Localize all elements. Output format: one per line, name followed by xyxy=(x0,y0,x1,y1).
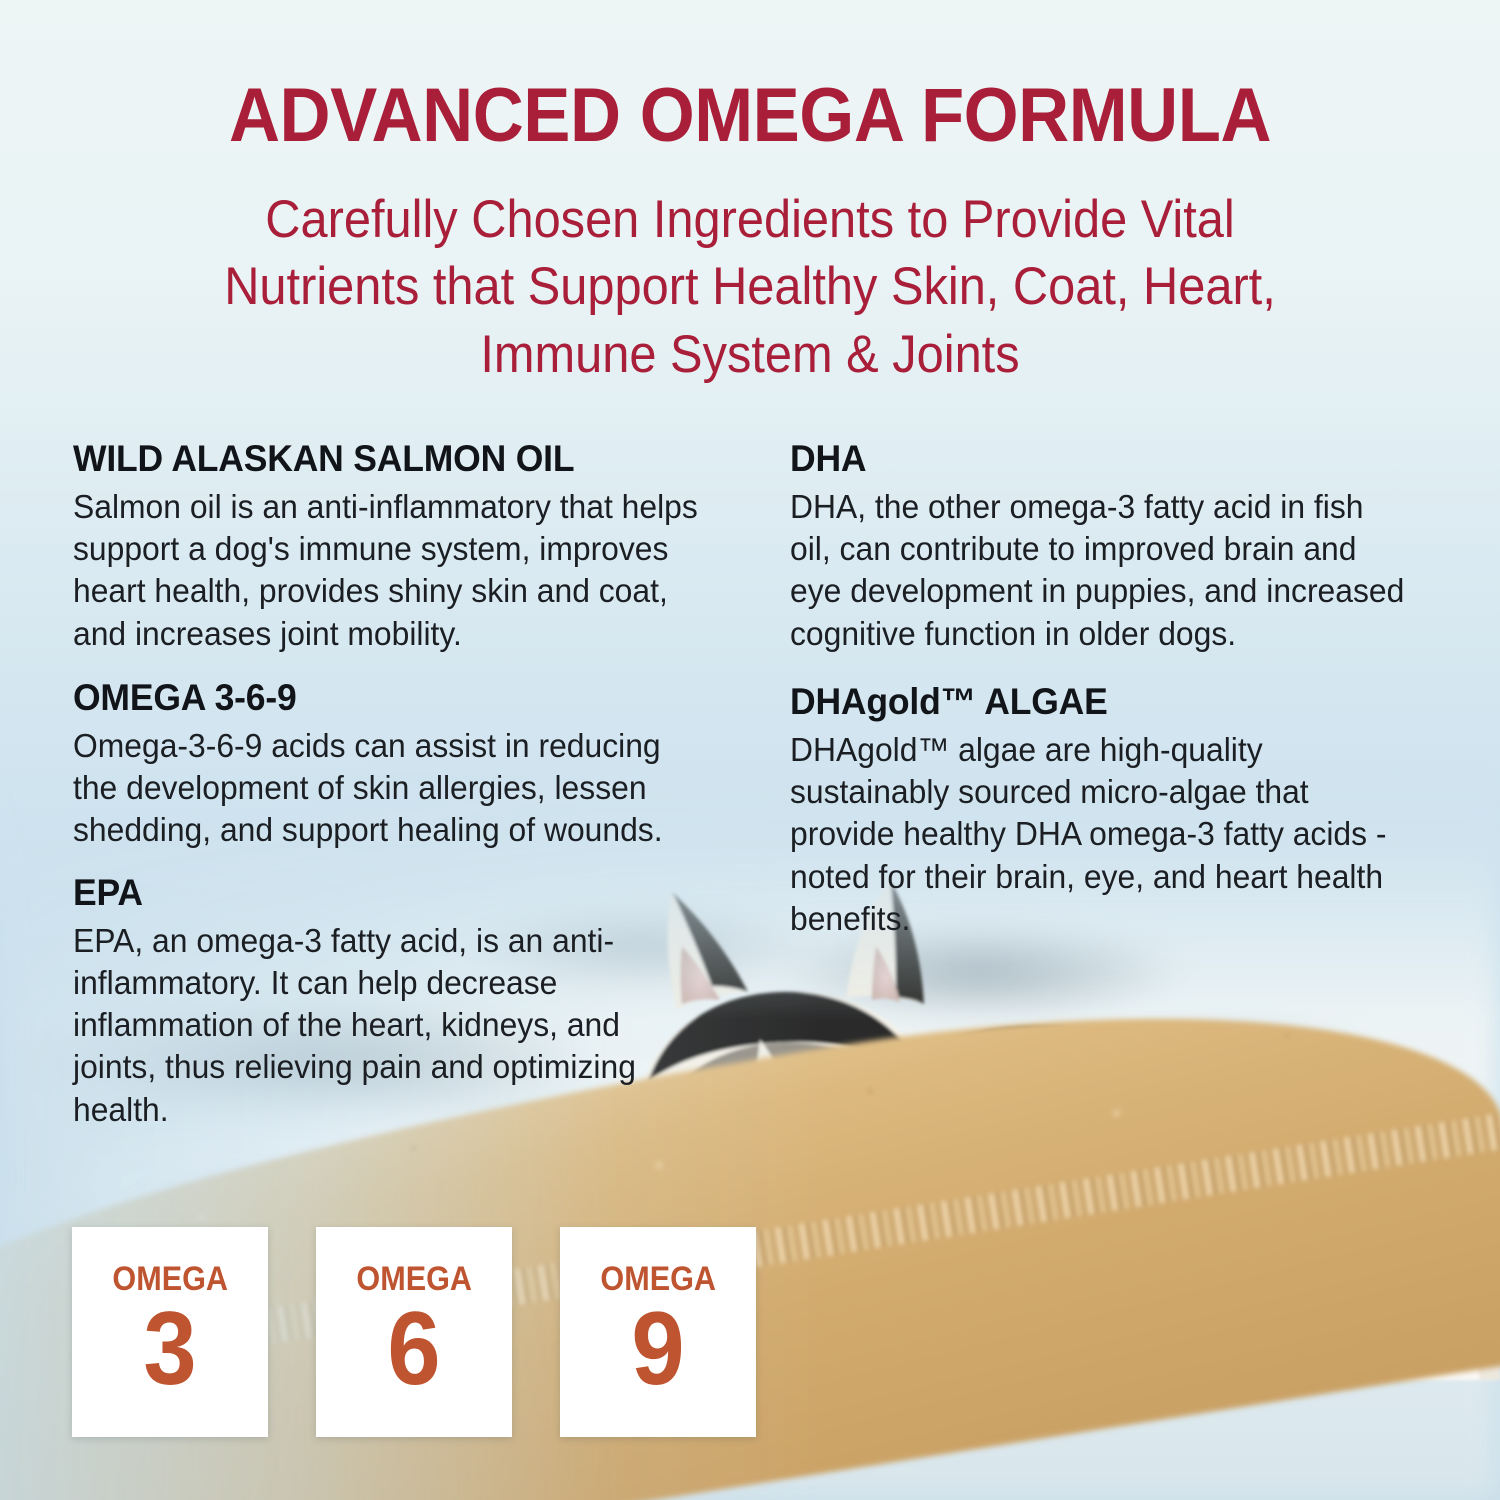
omega-badge-number: 3 xyxy=(143,1295,196,1404)
ingredient-section: OMEGA 3-6-9 Omega-3-6-9 acids can assist… xyxy=(73,677,733,852)
section-heading: DHA xyxy=(790,438,1409,480)
ingredient-column-left: WILD ALASKAN SALMON OIL Salmon oil is an… xyxy=(73,438,733,1141)
page-title: ADVANCED OMEGA FORMULA xyxy=(53,78,1448,154)
section-body: DHA, the other omega-3 fatty acid in fis… xyxy=(790,486,1412,655)
ingredient-section: EPA EPA, an omega-3 fatty acid, is an an… xyxy=(73,872,733,1131)
ingredient-section: DHAgold™ ALGAE DHAgold™ algae are high-q… xyxy=(790,681,1435,940)
section-heading: DHAgold™ ALGAE xyxy=(790,681,1409,723)
omega-badge-number: 6 xyxy=(387,1295,440,1404)
ingredient-column-right: DHA DHA, the other omega-3 fatty acid in… xyxy=(790,438,1435,950)
product-infographic: ADVANCED OMEGA FORMULA Carefully Chosen … xyxy=(0,0,1500,1500)
section-body: Salmon oil is an anti-inflammatory that … xyxy=(73,486,710,655)
omega-badge-9: OMEGA 9 xyxy=(560,1227,756,1437)
page-subtitle: Carefully Chosen Ingredients to Provide … xyxy=(189,186,1311,388)
omega-badge-6: OMEGA 6 xyxy=(316,1227,512,1437)
ingredient-section: WILD ALASKAN SALMON OIL Salmon oil is an… xyxy=(73,438,733,655)
section-heading: WILD ALASKAN SALMON OIL xyxy=(73,438,707,480)
omega-badge-3: OMEGA 3 xyxy=(72,1227,268,1437)
section-body: DHAgold™ algae are high-quality sustaina… xyxy=(790,729,1412,940)
section-body: EPA, an omega-3 fatty acid, is an anti-i… xyxy=(73,920,710,1131)
section-heading: OMEGA 3-6-9 xyxy=(73,677,707,719)
section-body: Omega-3-6-9 acids can assist in reducing… xyxy=(73,725,710,852)
ingredient-section: DHA DHA, the other omega-3 fatty acid in… xyxy=(790,438,1435,655)
section-heading: EPA xyxy=(73,872,707,914)
omega-badge-number: 9 xyxy=(631,1295,684,1404)
omega-badge-group: OMEGA 3 OMEGA 6 OMEGA 9 xyxy=(72,1227,756,1437)
